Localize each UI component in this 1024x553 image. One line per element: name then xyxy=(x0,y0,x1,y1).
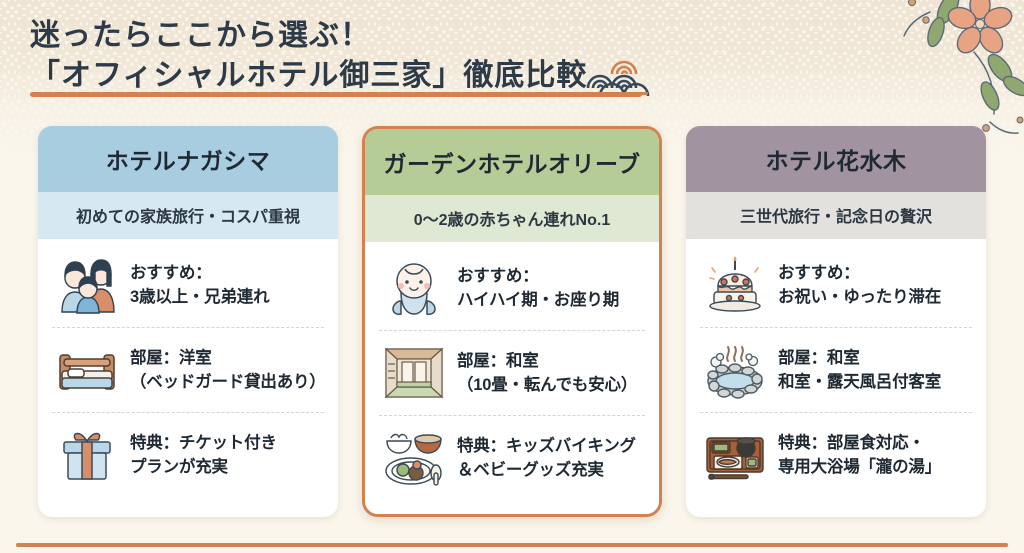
hotel-card-garden-olive[interactable]: ガーデンホテルオリーブ 0〜2歳の赤ちゃん連れNo.1 xyxy=(362,126,662,517)
seigaiha-wave-icon xyxy=(586,56,652,96)
feature-row: おすすめ：お祝い・ゆったり滞在 xyxy=(700,243,972,327)
tatami-room-icon xyxy=(383,344,445,402)
feature-row: 部屋：和室和室・露天風呂付客室 xyxy=(700,327,972,412)
bottom-rule xyxy=(16,543,1008,547)
feature-row: 部屋：和室（10畳・転んでも安心） xyxy=(379,330,645,415)
hotel-card-nagashima[interactable]: ホテルナガシマ 初めての家族旅行・コスパ重視 xyxy=(38,126,338,517)
feature-row: おすすめ：3歳以上・兄弟連れ xyxy=(52,243,324,327)
card-title: ガーデンホテルオリーブ xyxy=(365,129,659,195)
card-body: おすすめ：ハイハイ期・お座り期 xyxy=(365,242,659,514)
card-tagline: 0〜2歳の赤ちゃん連れNo.1 xyxy=(365,195,659,242)
family-icon xyxy=(56,256,118,314)
card-body: おすすめ：3歳以上・兄弟連れ xyxy=(38,239,338,511)
hotel-card-hanamizuki[interactable]: ホテル花水木 三世代旅行・記念日の贅沢 xyxy=(686,126,986,517)
title-underline xyxy=(30,92,642,97)
birthday-cake-icon xyxy=(704,256,766,314)
bed-icon xyxy=(56,341,118,399)
feature-text: 特典：キッズバイキング＆ベビーグッズ充実 xyxy=(457,434,636,483)
feature-row: 特典：チケット付きプランが充実 xyxy=(52,412,324,497)
sakura-flower-decoration-icon xyxy=(870,0,1024,140)
feature-row: 特典：キッズバイキング＆ベビーグッズ充実 xyxy=(379,415,645,500)
kids-buffet-meal-icon xyxy=(383,429,445,487)
feature-row: 部屋：洋室（ベッドガード貸出あり） xyxy=(52,327,324,412)
feature-text: 特典：部屋食対応・専用大浴場「瀧の湯」 xyxy=(778,431,941,480)
kaiseki-tray-meal-icon xyxy=(704,426,766,484)
feature-text: おすすめ：3歳以上・兄弟連れ xyxy=(130,261,269,310)
card-tagline: 三世代旅行・記念日の贅沢 xyxy=(686,192,986,239)
feature-text: おすすめ：お祝い・ゆったり滞在 xyxy=(778,261,941,310)
card-body: おすすめ：お祝い・ゆったり滞在 xyxy=(686,239,986,511)
feature-text: 部屋：和室和室・露天風呂付客室 xyxy=(778,346,941,395)
baby-icon xyxy=(383,259,445,317)
card-tagline: 初めての家族旅行・コスパ重視 xyxy=(38,192,338,239)
onsen-hot-spring-icon xyxy=(704,341,766,399)
feature-text: 特典：チケット付きプランが充実 xyxy=(130,431,277,480)
feature-text: 部屋：洋室（ベッドガード貸出あり） xyxy=(130,346,326,395)
hotel-comparison-cards: ホテルナガシマ 初めての家族旅行・コスパ重視 xyxy=(0,126,1024,517)
card-title: ホテルナガシマ xyxy=(38,126,338,192)
title-line-1: 迷ったらここから選ぶ！ xyxy=(30,16,690,56)
gift-icon xyxy=(56,426,118,484)
feature-row: おすすめ：ハイハイ期・お座り期 xyxy=(379,246,645,330)
feature-text: おすすめ：ハイハイ期・お座り期 xyxy=(457,264,619,313)
feature-row: 特典：部屋食対応・専用大浴場「瀧の湯」 xyxy=(700,412,972,497)
feature-text: 部屋：和室（10畳・転んでも安心） xyxy=(457,349,637,398)
